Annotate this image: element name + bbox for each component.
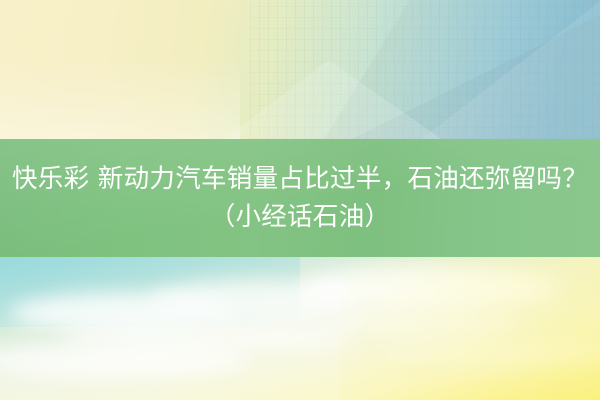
page-title: 快乐彩 新动力汽车销量占比过半，石油还弥留吗？（小经话石油）	[2, 160, 598, 236]
polygon-facet-corner	[330, 0, 600, 139]
cloud-shape	[380, 339, 600, 365]
sky-cool-tint	[0, 257, 300, 327]
texture-grid-overlay	[250, 0, 600, 139]
cloud-shape	[60, 323, 360, 353]
polygon-facet-highlight	[420, 0, 600, 139]
article-banner-card: 快乐彩 新动力汽车销量占比过半，石油还弥留吗？（小经话石油）	[0, 0, 600, 400]
polygon-facet-large	[250, 0, 600, 139]
title-banner: 快乐彩 新动力汽车销量占比过半，石油还弥留吗？（小经话石油）	[0, 139, 600, 257]
cloud-shape	[210, 305, 370, 327]
cloud-shape	[0, 343, 250, 379]
top-gradient-panel	[0, 0, 600, 139]
cloud-shape	[10, 293, 240, 333]
polygon-facet-triangle	[170, 60, 500, 139]
cloud-shape	[330, 309, 530, 337]
cloud-shape	[150, 281, 360, 315]
cloud-shape	[300, 267, 560, 311]
panel-bottom-fade	[0, 0, 240, 139]
sky-warm-tint	[340, 257, 600, 400]
sky-footer-panel	[0, 257, 600, 400]
